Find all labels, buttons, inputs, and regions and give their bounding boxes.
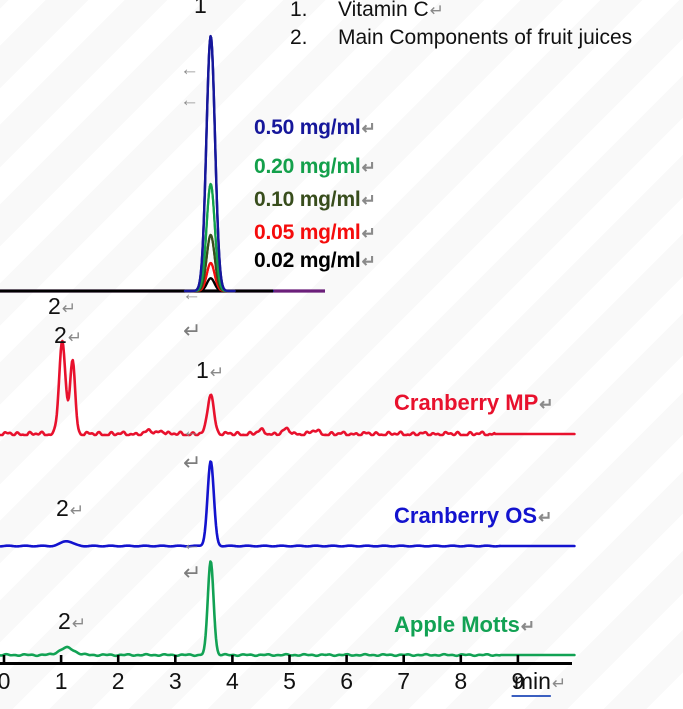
x-axis: 0123456789 min↵ (0, 652, 683, 709)
sample-label-cranberry-os: Cranberry OS↵ (394, 503, 552, 529)
return-mark-icon: ↵ (72, 614, 86, 634)
peak-label-2-panel2: 2↵ (56, 495, 84, 522)
panel-cranberry-mp (0, 341, 574, 435)
return-mark-icon: ↵ (539, 395, 553, 415)
anchor-arrow-icon: ← (182, 535, 201, 554)
return-mark-icon: ↵ (362, 191, 376, 211)
anchor-arrow-icon: ← (180, 91, 199, 110)
trace-line (0, 184, 273, 291)
axis-tick-label: 6 (340, 668, 353, 695)
axis-unit-text: min (514, 668, 551, 697)
peak-number: 1 (196, 357, 209, 383)
peak-number: 2 (48, 293, 61, 319)
return-mark-icon: ↵ (362, 158, 376, 178)
axis-unit-label: min↵ (514, 668, 566, 695)
legend-item-005: 0.05 mg/ml↵ (254, 221, 376, 245)
return-mark-icon: ↵ (62, 299, 76, 319)
axis-tick-label: 7 (397, 668, 410, 695)
peak-label-2-panel3: 2↵ (58, 608, 86, 635)
slide-canvas: ’ 1. Vitamin C↵ 2. Main Components of fr… (0, 0, 683, 709)
peak-label-1-panel0: 1 (194, 0, 207, 19)
legend-item-020: 0.20 mg/ml↵ (254, 155, 376, 179)
return-mark-icon: ↵ (210, 363, 224, 383)
trace-line (0, 37, 273, 291)
legend-label: 0.02 mg/ml (254, 249, 361, 272)
peak-number: 1 (194, 0, 207, 18)
peak-label-2-panel1: 2↵ (54, 322, 82, 349)
peak-label-1-panel1: 1↵ (196, 357, 224, 384)
sample-label-apple-motts: Apple Motts↵ (394, 612, 535, 638)
return-mark-icon: ↵ (362, 224, 376, 244)
trace-line (0, 263, 273, 291)
axis-tick-label: 0 (0, 668, 10, 695)
return-mark-icon: ↵ (183, 450, 201, 476)
chromatogram-traces (0, 0, 683, 709)
return-mark-icon: ↵ (68, 328, 82, 348)
trace-line (0, 341, 574, 435)
return-mark-icon: ↵ (362, 252, 376, 272)
axis-tick-label: 4 (226, 668, 239, 695)
return-mark-icon: ↵ (538, 508, 552, 528)
legend-label: 0.05 mg/ml (254, 221, 361, 244)
sample-name: Apple Motts (394, 612, 520, 637)
return-mark-icon: ↵ (70, 501, 84, 521)
peak-number: 2 (56, 495, 69, 521)
legend-item-050: 0.50 mg/ml↵ (254, 116, 376, 140)
return-mark-icon: ↵ (183, 560, 201, 586)
panel-apple-motts (0, 562, 574, 656)
return-mark-icon: ↵ (521, 617, 535, 637)
axis-tick-label: 3 (169, 668, 182, 695)
axis-tick-label: 1 (55, 668, 68, 695)
trace-line (0, 235, 273, 291)
return-mark-icon: ↵ (183, 318, 201, 344)
anchor-arrow-icon: ← (180, 60, 199, 79)
peak-number: 2 (54, 322, 67, 348)
trace-line (0, 278, 273, 291)
sample-label-cranberry-mp: Cranberry MP↵ (394, 390, 554, 416)
anchor-arrow-icon: ← (182, 422, 201, 441)
legend-item-002: 0.02 mg/ml↵ (254, 249, 376, 273)
peak-number: 2 (58, 608, 71, 634)
sample-name: Cranberry MP (394, 390, 538, 415)
return-mark-icon: ↵ (552, 674, 566, 694)
axis-tick-label: 8 (454, 668, 467, 695)
anchor-arrow-icon: ← (182, 285, 201, 304)
legend-label: 0.20 mg/ml (254, 155, 361, 178)
legend-label: 0.50 mg/ml (254, 116, 361, 139)
trace-line (0, 562, 574, 656)
sample-name: Cranberry OS (394, 503, 537, 528)
peak-label-2-panel0: 2↵ (48, 293, 76, 320)
legend-label: 0.10 mg/ml (254, 188, 361, 211)
return-mark-icon: ↵ (362, 119, 376, 139)
axis-tick-label: 2 (112, 668, 125, 695)
legend-item-010: 0.10 mg/ml↵ (254, 188, 376, 212)
axis-tick-label: 5 (283, 668, 296, 695)
